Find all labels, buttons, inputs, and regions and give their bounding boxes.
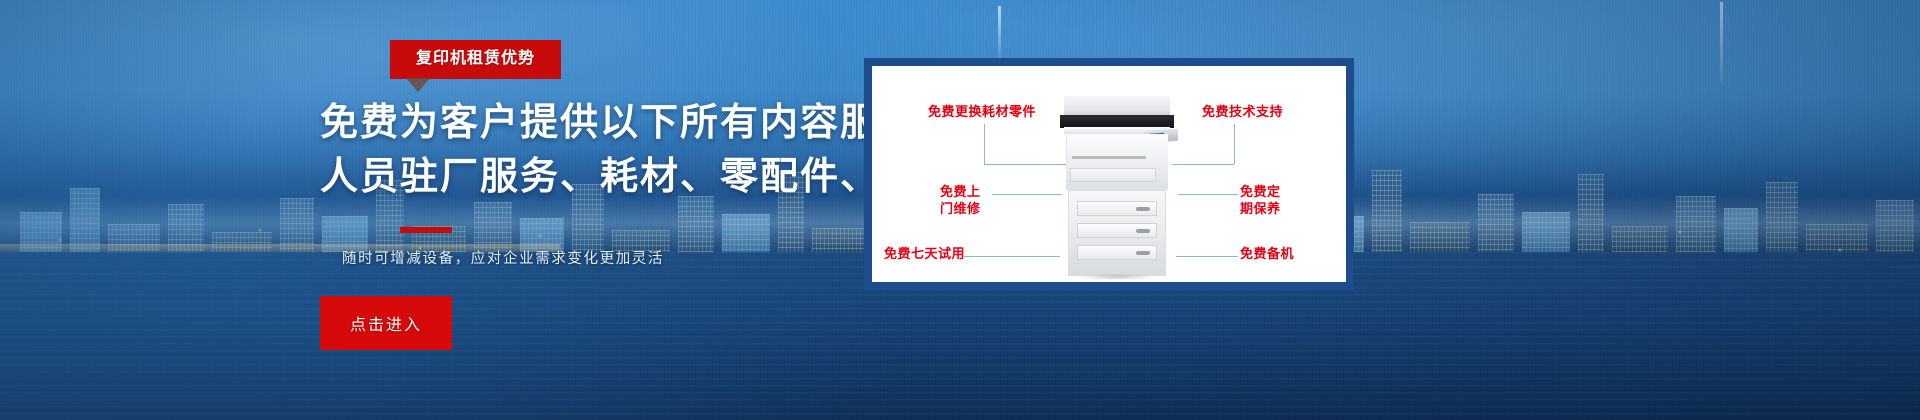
copier-machine-illustration: COPIER (1058, 96, 1176, 278)
enter-button[interactable]: 点击进入 (320, 296, 452, 350)
label-free-regular-maintenance-line2: 期保养 (1240, 201, 1281, 217)
diagram-canvas: 免费更换耗材零件 免费技术支持 免费上 门维修 免费定 期保养 免费七天试用 免… (872, 66, 1346, 282)
badge-wrapper: 复印机租赁优势 (320, 40, 561, 79)
accent-rule (400, 227, 452, 233)
leader-line-backup (1176, 256, 1238, 257)
headline-line-2: 人员驻厂服务、耗材、零配件、人工费 (320, 151, 880, 205)
leader-line-trial (964, 256, 1060, 257)
leader-line-parts-vertical (984, 124, 985, 164)
label-free-tech-support: 免费技术支持 (1202, 104, 1283, 120)
label-free-parts-replacement: 免费更换耗材零件 (928, 104, 1036, 120)
label-free-regular-maintenance-line1: 免费定 (1240, 184, 1281, 200)
copier-output-slot (1072, 156, 1146, 159)
subtitle: 随时可增减设备，应对企业需求变化更加灵活 (342, 247, 880, 268)
badge-pointer-triangle (406, 78, 430, 92)
leader-line-support-horizontal (1172, 164, 1234, 165)
copier-paper-drawer-2 (1077, 223, 1157, 238)
copier-ground-shadow (1064, 274, 1170, 280)
advantage-badge: 复印机租赁优势 (390, 40, 561, 79)
label-free-backup-machine: 免费备机 (1240, 246, 1294, 262)
leader-line-maintenance (1178, 194, 1238, 195)
copier-cabinet (1068, 190, 1166, 276)
leader-line-support-vertical (1234, 124, 1235, 164)
feature-diagram-panel: 免费更换耗材零件 免费技术支持 免费上 门维修 免费定 期保养 免费七天试用 免… (864, 58, 1354, 290)
promo-banner: 复印机租赁优势 免费为客户提供以下所有内容服务： 人员驻厂服务、耗材、零配件、人… (0, 0, 1920, 420)
label-free-seven-day-trial: 免费七天试用 (884, 246, 965, 262)
copier-lid (1064, 96, 1170, 116)
leader-line-repair (992, 194, 1062, 195)
label-free-onsite-repair-line1: 免费上 (940, 184, 981, 200)
leader-line-parts-horizontal (984, 164, 1068, 165)
copier-output-tray (1070, 168, 1156, 182)
label-free-onsite-repair-line2: 门维修 (940, 201, 981, 217)
copier-paper-drawer-1 (1077, 201, 1157, 216)
page-title: 免费为客户提供以下所有内容服务： 人员驻厂服务、耗材、零配件、人工费 (320, 97, 880, 205)
banner-copy-block: 复印机租赁优势 免费为客户提供以下所有内容服务： 人员驻厂服务、耗材、零配件、人… (320, 40, 880, 350)
copier-paper-drawer-3 (1077, 245, 1157, 260)
